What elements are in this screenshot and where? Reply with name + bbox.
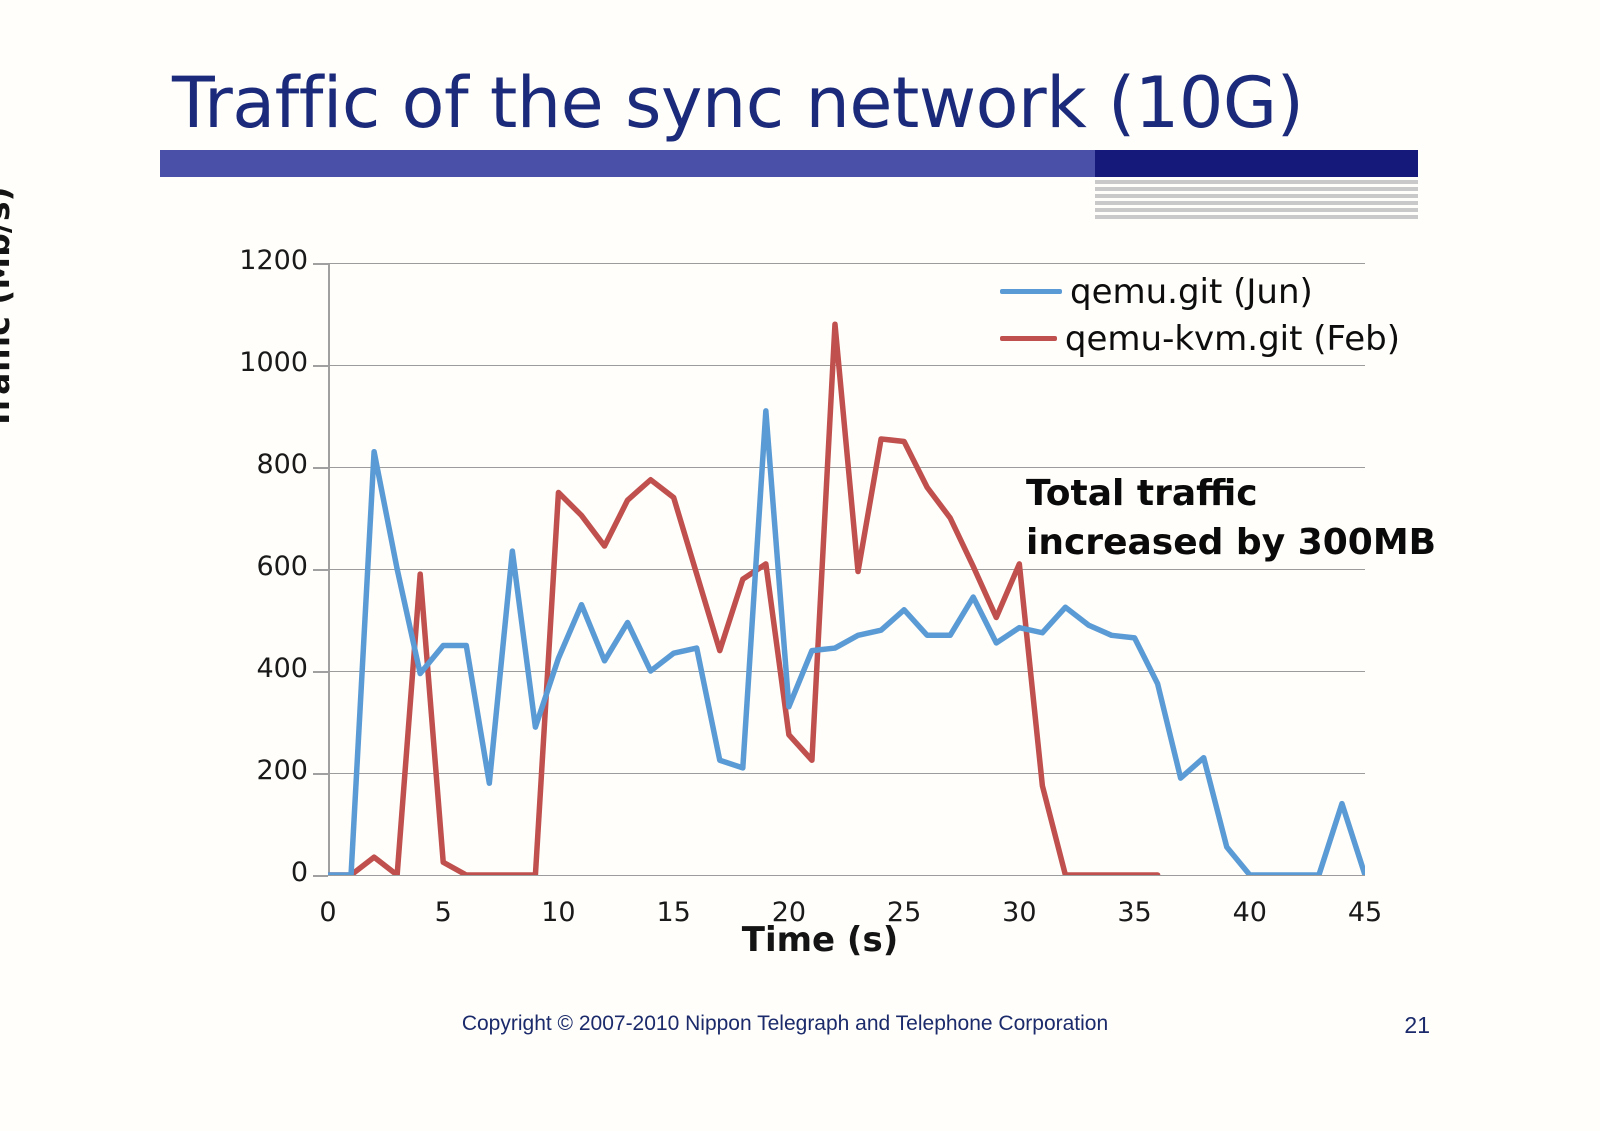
y-tick-label: 0	[228, 857, 308, 888]
footer-copyright: Copyright © 2007-2010 Nippon Telegraph a…	[0, 1012, 1600, 1036]
y-tick-label: 600	[228, 551, 308, 582]
traffic-line-chart: Traffic (Mb/s) 020040060080010001200 051…	[0, 0, 1600, 1131]
legend-color-swatch	[1000, 336, 1057, 341]
legend-item-qemu-git: qemu.git (Jun)	[1000, 268, 1400, 315]
y-tick-label: 1200	[228, 245, 308, 276]
legend-item-qemu-kvm-git: qemu-kvm.git (Feb)	[1000, 315, 1400, 362]
legend-label: qemu.git (Jun)	[1070, 272, 1313, 312]
y-tick-label: 400	[228, 653, 308, 684]
annotation-line-2: increased by 300MB	[1026, 519, 1436, 568]
chart-legend: qemu.git (Jun) qemu-kvm.git (Feb)	[1000, 268, 1400, 362]
slide-canvas: Traffic of the sync network (10G) Traffi…	[0, 0, 1600, 1131]
x-axis-title: Time (s)	[0, 920, 1600, 960]
y-tick-mark	[313, 467, 328, 469]
y-tick-mark	[313, 263, 328, 265]
legend-color-swatch	[1000, 289, 1062, 294]
footer-page-number: 21	[1404, 1012, 1430, 1039]
chart-annotation: Total traffic increased by 300MB	[1026, 470, 1436, 567]
y-tick-mark	[313, 365, 328, 367]
y-tick-label: 1000	[228, 347, 308, 378]
y-tick-mark	[313, 569, 328, 571]
y-tick-label: 800	[228, 449, 308, 480]
y-tick-mark	[313, 671, 328, 673]
legend-label: qemu-kvm.git (Feb)	[1065, 319, 1400, 359]
gridline	[328, 875, 1365, 876]
annotation-line-1: Total traffic	[1026, 470, 1436, 519]
y-tick-mark	[313, 875, 328, 877]
y-tick-label: 200	[228, 755, 308, 786]
series-line-qemu-git	[328, 324, 1158, 875]
y-axis-title: Traffic (Mb/s)	[0, 186, 17, 430]
y-tick-mark	[313, 773, 328, 775]
